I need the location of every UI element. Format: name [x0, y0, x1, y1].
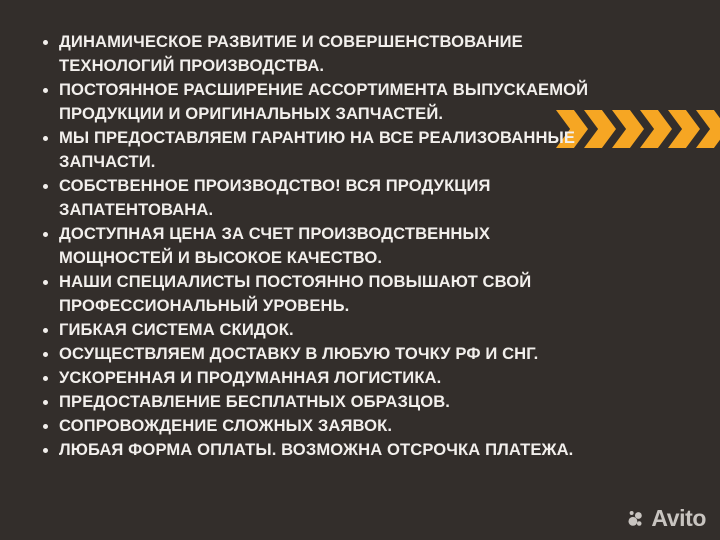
avito-wordmark: Avito: [651, 507, 706, 530]
avito-watermark: Avito: [628, 507, 706, 530]
benefits-list: Динамическое развитие и совершенствовани…: [42, 30, 602, 462]
benefit-item: Постоянное расширение ассортимента выпус…: [42, 78, 602, 126]
chevron-right-icon: [668, 110, 700, 148]
avito-dots-icon: [628, 509, 647, 528]
chevron-right-icon: [640, 110, 672, 148]
benefit-item: Динамическое развитие и совершенствовани…: [42, 30, 602, 78]
benefit-item: Ускоренная и продуманная логистика.: [42, 366, 602, 390]
benefit-item: Осуществляем доставку в любую точку РФ и…: [42, 342, 602, 366]
chevron-right-icon: [612, 110, 644, 148]
benefit-item: Предоставление бесплатных образцов.: [42, 390, 602, 414]
chevron-right-icon: [696, 110, 720, 148]
benefit-item: Мы предоставляем гарантию на все реализо…: [42, 126, 602, 174]
benefit-item: Гибкая система скидок.: [42, 318, 602, 342]
slide-canvas: Динамическое развитие и совершенствовани…: [0, 0, 720, 540]
benefit-item: Любая форма оплаты. Возможна отсрочка пл…: [42, 438, 602, 462]
benefit-item: Наши специалисты постоянно повышают свой…: [42, 270, 602, 318]
benefit-item: Сопровождение сложных заявок.: [42, 414, 602, 438]
benefit-item: Доступная цена за счет производственных …: [42, 222, 602, 270]
benefit-item: Собственное производство! Вся продукция …: [42, 174, 602, 222]
